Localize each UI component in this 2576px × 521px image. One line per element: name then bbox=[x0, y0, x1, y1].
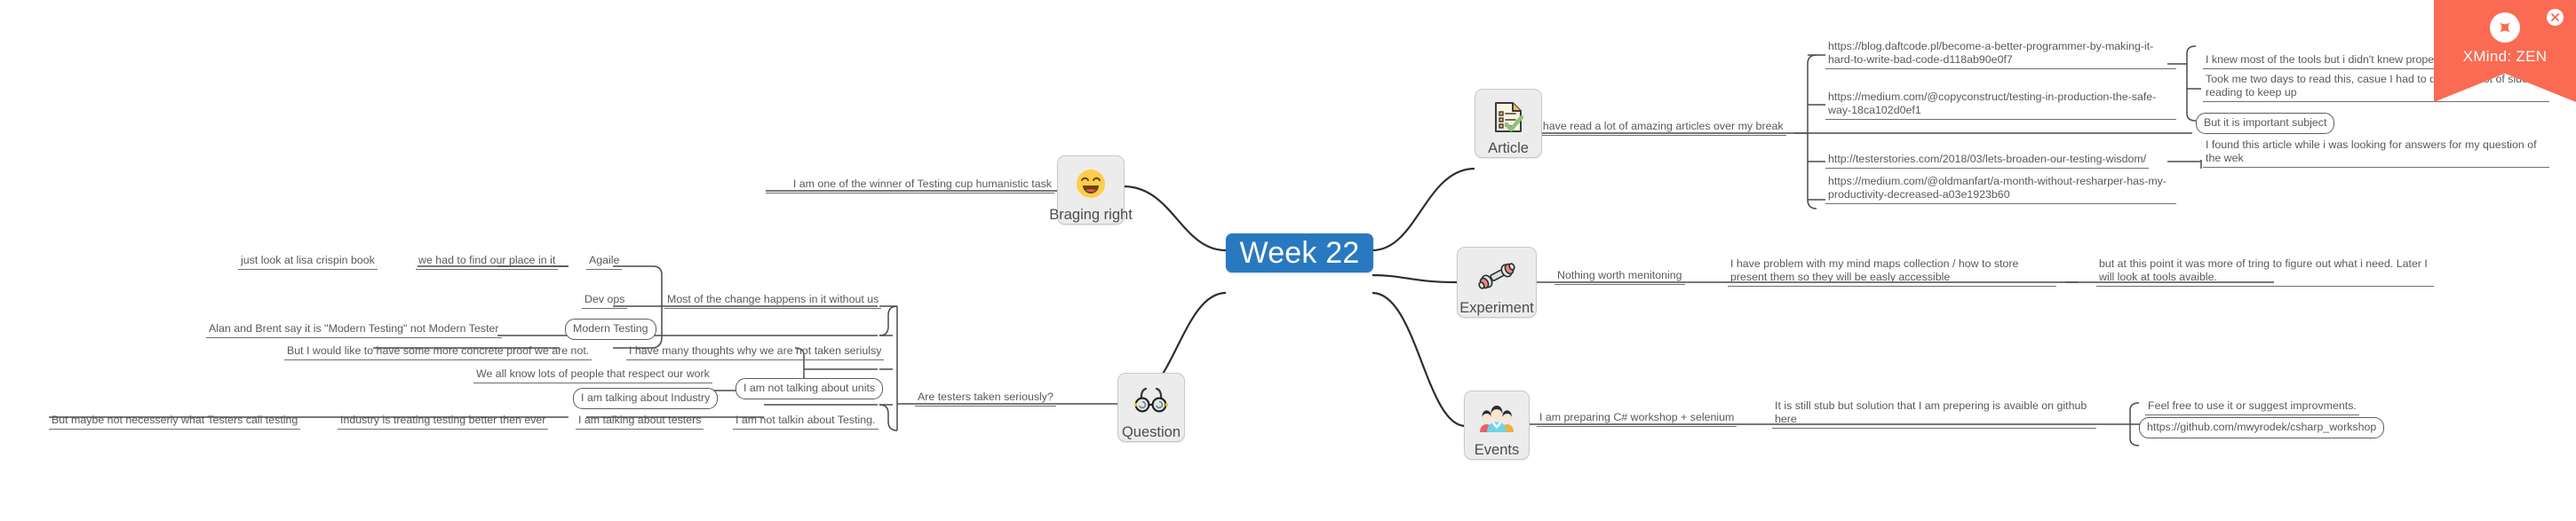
main-topic-braging-right[interactable]: Braging right bbox=[1057, 155, 1125, 225]
main-topic-events[interactable]: Events bbox=[1464, 391, 1530, 460]
main-topic-label: Article bbox=[1488, 140, 1529, 157]
subtopic-find-our-place[interactable]: we had to find our place in it bbox=[416, 254, 558, 270]
main-topic-label: Braging right bbox=[1049, 207, 1133, 224]
main-topic-label: Question bbox=[1122, 424, 1181, 441]
subtopic-concrete-proof[interactable]: But I would like to have some more concr… bbox=[284, 344, 592, 360]
subtopic-read-amazing-articles[interactable]: I have read a lot of amazing articles ov… bbox=[1534, 120, 1786, 136]
subtopic-figure-out-what-i-need[interactable]: but at this point it was more of tring t… bbox=[2096, 257, 2434, 287]
subtopic-agaile[interactable]: Agaile bbox=[586, 254, 622, 270]
document-checklist-emoji-icon bbox=[1488, 99, 1529, 135]
subtopic-modern-testing-not-tester[interactable]: Alan and Brent say it is "Modern Testing… bbox=[206, 322, 502, 338]
root-topic-label: Week 22 bbox=[1240, 236, 1360, 271]
subtopic-what-testers-call-testing[interactable]: But maybe not necesserly what Testers ca… bbox=[49, 414, 300, 430]
subtopic-stub-solution-github[interactable]: It is still stub but solution that I am … bbox=[1772, 399, 2096, 429]
subtopic-modern-testing[interactable]: Modern Testing bbox=[565, 319, 656, 340]
close-icon[interactable] bbox=[2547, 9, 2564, 26]
subtopic-many-thoughts-not-taken[interactable]: I have many thoughts why we are not take… bbox=[626, 344, 884, 360]
dumbbell-emoji-icon bbox=[1476, 257, 1517, 295]
subtopic-not-talking-units[interactable]: I am not talking about units bbox=[735, 378, 883, 399]
main-topic-experiment[interactable]: Experiment bbox=[1457, 247, 1537, 318]
subtopic-url-testerstories[interactable]: http://testerstories.com/2018/03/lets-br… bbox=[1825, 153, 2149, 169]
subtopic-change-without-us[interactable]: Most of the change happens in it without… bbox=[664, 293, 881, 309]
xmind-logo-icon bbox=[2490, 12, 2520, 43]
subtopic-found-article-question-of-week[interactable]: I found this article while i was looking… bbox=[2203, 138, 2549, 168]
subtopic-mindmap-collection-problem[interactable]: I have problem with my mind maps collect… bbox=[1728, 257, 2056, 287]
subtopic-people-respect-our-work[interactable]: We all know lots of people that respect … bbox=[473, 367, 712, 383]
mindmap-canvas[interactable]: Week 22 Braging right I am one of the wi… bbox=[0, 0, 2576, 521]
subtopic-knew-tools-not-terminology[interactable]: I knew most of the tools but i didn't kn… bbox=[2203, 53, 2494, 69]
subtopic-devops[interactable]: Dev ops bbox=[582, 293, 627, 309]
subtopic-url-oldmanfart[interactable]: https://medium.com/@oldmanfart/a-month-w… bbox=[1825, 175, 2176, 204]
subtopic-talking-industry[interactable]: I am talking about Industry bbox=[573, 388, 718, 409]
root-topic-week22[interactable]: Week 22 bbox=[1226, 233, 1373, 272]
subtopic-industry-treating-testing[interactable]: Industry is treating testing better then… bbox=[338, 414, 548, 430]
subtopic-url-copyconstruct[interactable]: https://medium.com/@copyconstruct/testin… bbox=[1825, 91, 2176, 120]
subtopic-talking-testers[interactable]: I am talking about testers bbox=[576, 414, 704, 430]
subtopic-csharp-workshop-selenium[interactable]: I am preparing C# workshop + selenium bbox=[1537, 411, 1737, 427]
subtopic-lisa-crispin-book[interactable]: just look at lisa crispin book bbox=[238, 254, 378, 270]
main-topic-label: Events bbox=[1475, 442, 1519, 459]
subtopic-testing-cup-win[interactable]: I am one of the winner of Testing cup hu… bbox=[766, 178, 1054, 193]
spiral-glasses-emoji-icon bbox=[1131, 383, 1172, 419]
people-group-emoji-icon bbox=[1476, 400, 1517, 437]
subtopic-important-subject[interactable]: But it is important subject bbox=[2196, 113, 2334, 134]
grinning-squinting-face-emoji-icon bbox=[1070, 165, 1111, 201]
subtopic-url-daftcode[interactable]: https://blog.daftcode.pl/become-a-better… bbox=[1825, 40, 2176, 69]
main-topic-article[interactable]: Article bbox=[1475, 89, 1542, 158]
subtopic-testers-taken-seriously[interactable]: Are testers taken seriously? bbox=[915, 391, 1056, 407]
subtopic-nothing-worth-mentioning[interactable]: Nothing worth menitoning bbox=[1554, 269, 1685, 285]
subtopic-feel-free-to-use[interactable]: Feel free to use it or suggest improvmen… bbox=[2145, 399, 2359, 415]
main-topic-question[interactable]: Question bbox=[1117, 373, 1185, 442]
main-topic-label: Experiment bbox=[1459, 300, 1533, 317]
subtopic-not-talkin-testing[interactable]: I am not talkin about Testing. bbox=[733, 414, 879, 430]
subtopic-url-github-csharp-workshop[interactable]: https://github.com/mwyrodek/csharp_works… bbox=[2139, 417, 2384, 438]
subtopic-two-days-to-read[interactable]: Took me two days to read this, casue I h… bbox=[2203, 73, 2549, 102]
